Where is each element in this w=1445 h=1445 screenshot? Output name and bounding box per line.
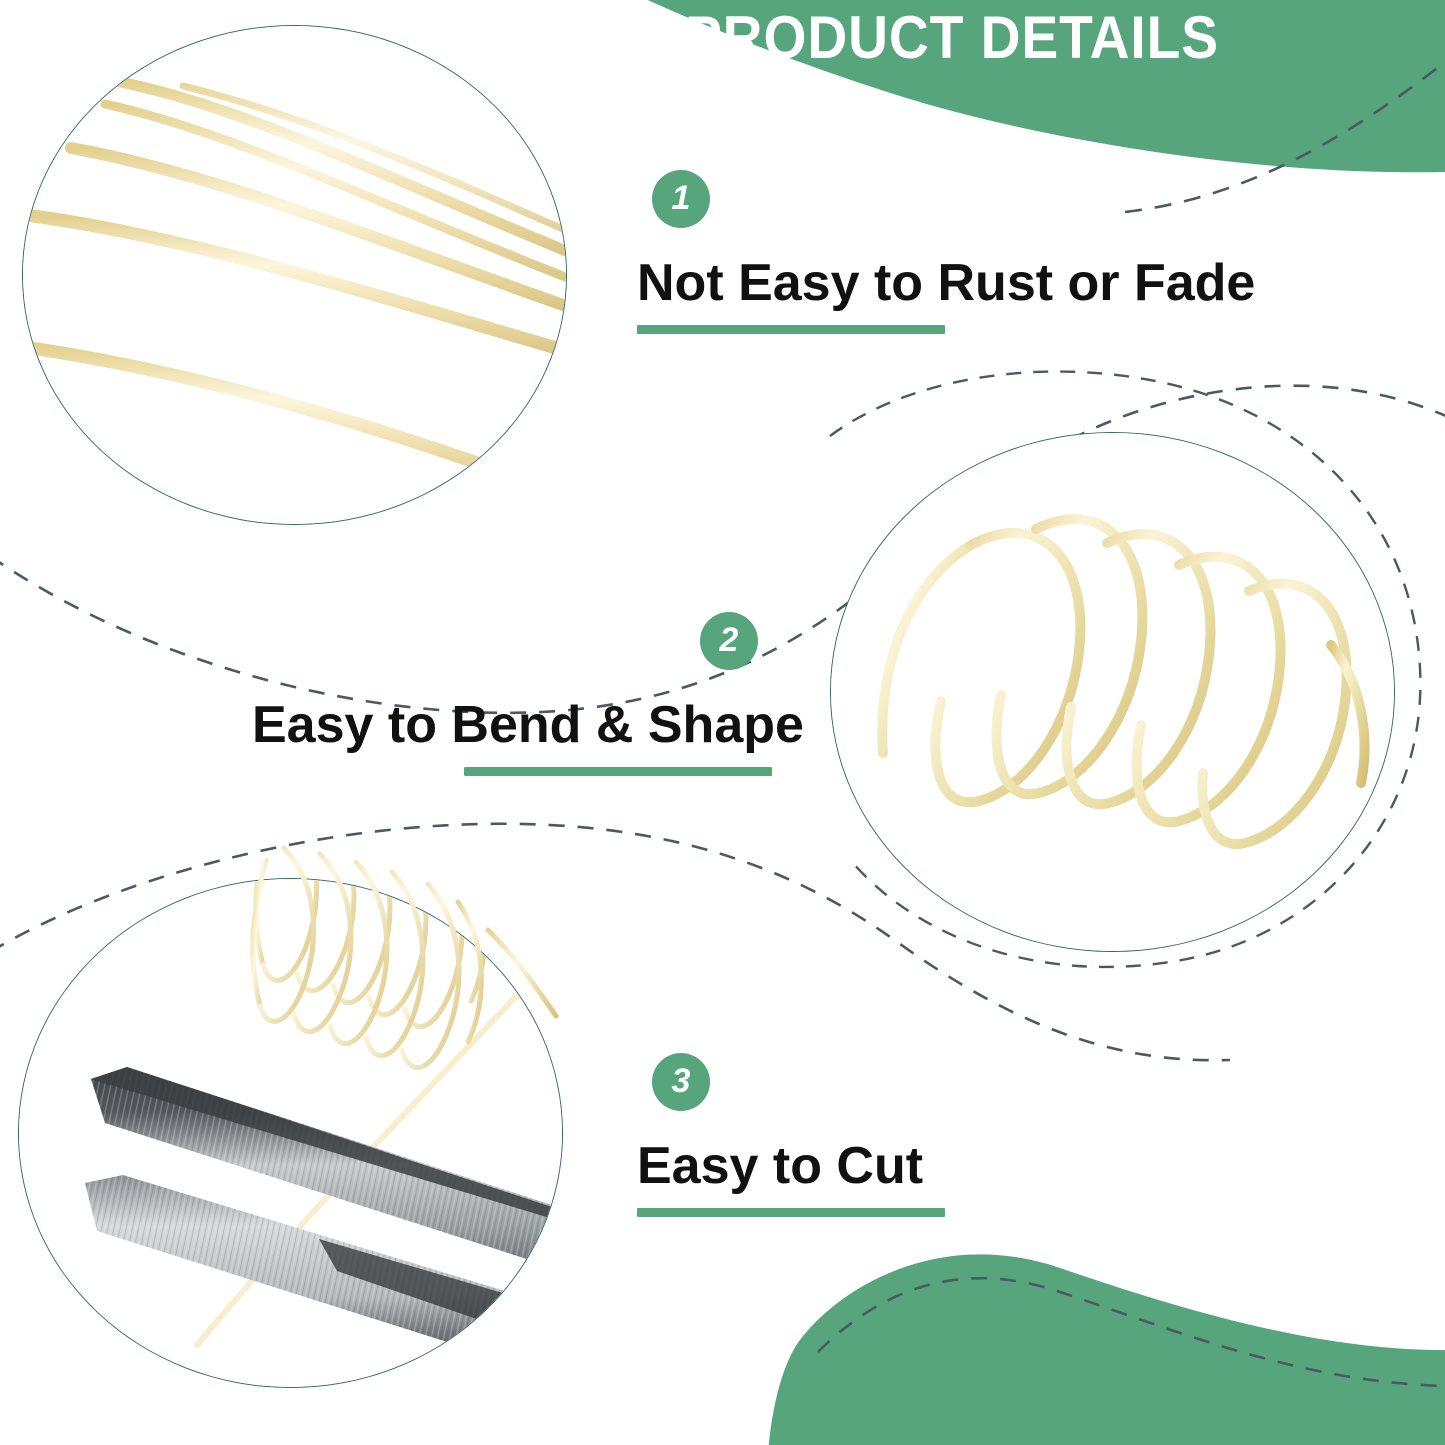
feature-underline-2 — [464, 767, 772, 776]
feature-title-1: Not Easy to Rust or Fade — [637, 256, 1255, 311]
product-photo-straight-wire — [22, 25, 567, 525]
feature-underline-3 — [637, 1208, 945, 1217]
product-photo-coiled-wire — [830, 432, 1395, 952]
feature-title-2: Easy to Bend & Shape — [252, 698, 772, 753]
product-photo-cutting-wire — [18, 878, 563, 1388]
feature-block-2: 2 Easy to Bend & Shape — [252, 612, 772, 776]
feature-number-badge-1: 1 — [652, 170, 710, 228]
feature-number-badge-3: 3 — [652, 1053, 710, 1111]
page-title: PRODUCT DETAILS — [639, 8, 1265, 68]
footer-wave — [768, 1254, 1445, 1445]
feature-block-3: 3 Easy to Cut — [637, 1053, 945, 1217]
feature-title-3: Easy to Cut — [637, 1139, 945, 1194]
feature-number-badge-2: 2 — [700, 612, 758, 670]
feature-underline-1 — [637, 325, 945, 334]
feature-block-1: 1 Not Easy to Rust or Fade — [637, 170, 1255, 334]
infographic-canvas: PRODUCT DETAILS — [0, 0, 1445, 1445]
